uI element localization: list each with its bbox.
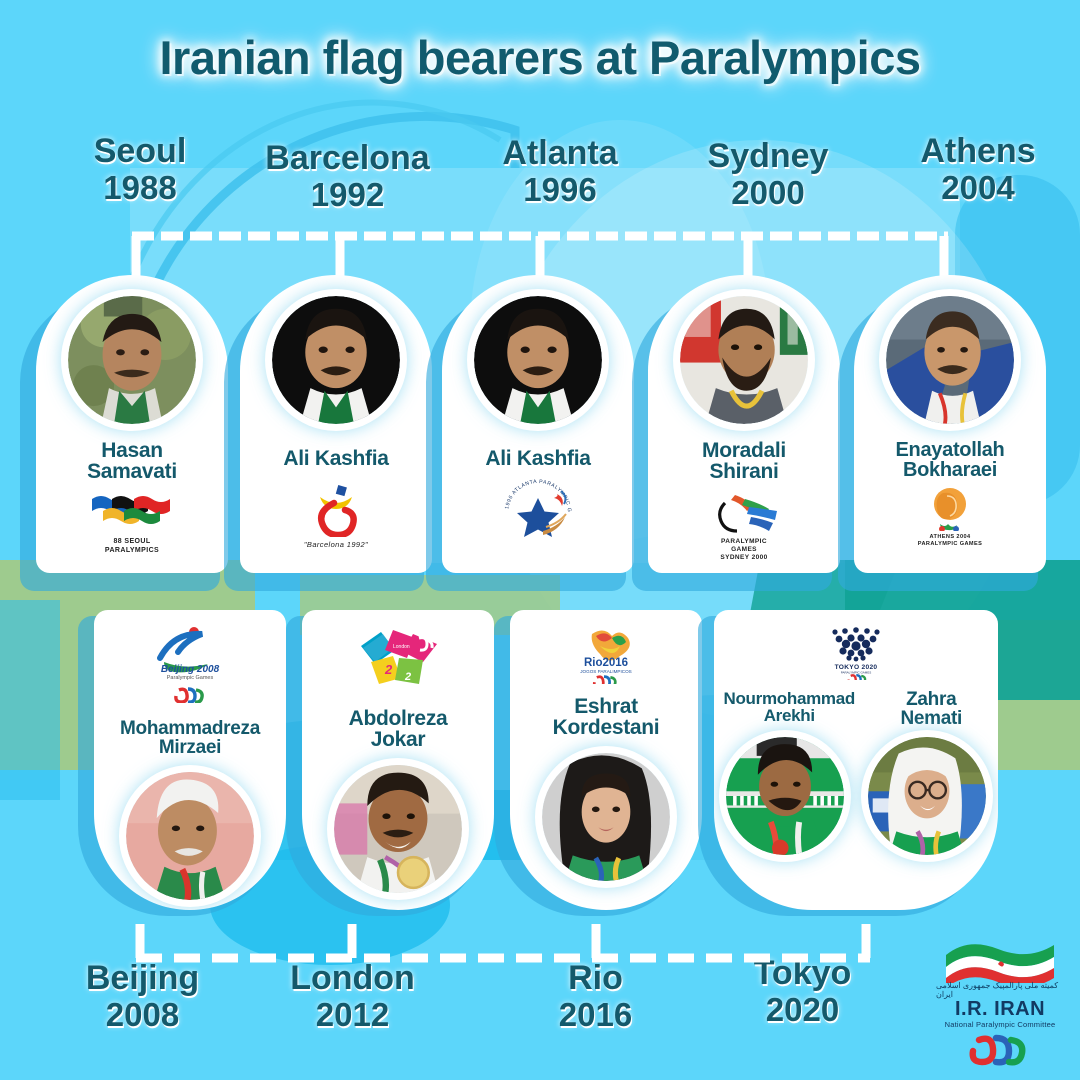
games-city: Sydney [668, 138, 868, 175]
logo-caption: "Barcelona 1992" [304, 540, 368, 549]
logo-mark [705, 491, 783, 537]
logo-mark: 2 2 London [353, 628, 443, 694]
card-face: Moradali Shirani PARALYMPICGAMESSYDNEY 2… [648, 275, 840, 573]
portrait-illustration [868, 737, 986, 855]
svg-text:2: 2 [404, 671, 411, 683]
flagbearer-card-rio[interactable]: Rio2016 JOGOS PARALIMPICOS Eshrat Kordes… [504, 610, 704, 930]
flagbearer-card-atlanta[interactable]: Ali Kashfia 1996 ATLANTA PARALYMPIC GAME… [434, 275, 634, 585]
games-label-atlanta: Atlanta 1996 [460, 135, 660, 207]
games-label-seoul: Seoul 1988 [40, 133, 240, 205]
card-face: TOKYO 2020 PARALYMPIC GAMES Nourmohammad… [714, 610, 998, 910]
portrait-illustration [68, 296, 196, 424]
beijing-2008-paralympics-logo: Beijing 2008 Paralympic Games [142, 626, 238, 703]
portrait-illustration [334, 765, 462, 893]
athens-2004-paralympics-logo: ATHENS 2004PARALYMPIC GAMES [918, 487, 983, 548]
seoul-1988-paralympics-logo: 88 SEOULPARALYMPICS [86, 493, 178, 556]
logo-mark: TOKYO 2020 PARALYMPIC GAMES [825, 624, 887, 680]
photo-abdolreza-jokar [334, 765, 462, 893]
games-label-sydney: Sydney 2000 [668, 138, 868, 210]
portrait-illustration [886, 296, 1014, 424]
games-label-barcelona: Barcelona 1992 [245, 140, 450, 212]
npc-logo: کمیته ملی پارالمپیک جمهوری اسلامی ایران … [936, 937, 1064, 1068]
logo-mark [86, 493, 178, 535]
games-city: Barcelona [245, 140, 450, 177]
flagbearer-card-seoul[interactable]: Hasan Samavati 88 SEOULPARALYMPICS [28, 275, 228, 585]
logo-caption: ATHENS 2004PARALYMPIC GAMES [918, 534, 983, 548]
person-name: Hasan Samavati [87, 440, 177, 483]
games-year: 2016 [498, 997, 693, 1033]
games-city: Seoul [40, 133, 240, 170]
svg-text:Beijing 2008: Beijing 2008 [161, 664, 220, 675]
person-name: Mohammadreza Mirzaei [120, 719, 260, 758]
games-city: Athens [878, 133, 1078, 170]
photo-zahra-nemati [868, 737, 986, 855]
logo-mark [923, 487, 977, 531]
card-face: Beijing 2008 Paralympic Games Mohammadre… [94, 610, 286, 910]
page-title: Iranian flag bearers at Paralympics [0, 30, 1080, 85]
flagbearer-card-beijing[interactable]: Beijing 2008 Paralympic Games Mohammadre… [88, 610, 288, 930]
flagbearer-card-tokyo[interactable]: TOKYO 2020 PARALYMPIC GAMES Nourmohammad… [708, 610, 998, 930]
person-name: Enayatollah Bokharaei [896, 440, 1005, 481]
games-label-athens: Athens 2004 [878, 133, 1078, 205]
atlanta-1996-paralympics-logo: 1996 ATLANTA PARALYMPIC GAMES 1996 ATLAN… [499, 477, 577, 551]
photo-moradali-shirani [680, 296, 808, 424]
tokyo-people-names: Nourmohammad Arekhi Zahra Nemati [714, 690, 998, 729]
card-face: Hasan Samavati 88 SEOULPARALYMPICS [36, 275, 228, 573]
portrait-illustration [272, 296, 400, 424]
person-name: Ali Kashfia [283, 448, 388, 469]
games-city: Atlanta [460, 135, 660, 172]
paralympic-agitos-icon [173, 687, 207, 703]
npc-subtitle: National Paralympic Committee [945, 1020, 1056, 1029]
svg-text:JOGOS PARALIMPICOS: JOGOS PARALIMPICOS [580, 669, 631, 674]
logo-caption: 88 SEOULPARALYMPICS [105, 538, 159, 556]
london-2012-paralympics-logo: 2 2 London [353, 628, 443, 694]
photo-mohammadreza-mirzaei [126, 772, 254, 900]
portrait-illustration [126, 772, 254, 900]
portrait-illustration [474, 296, 602, 424]
games-year: 2004 [878, 170, 1078, 206]
person-name: Zahra Nemati [869, 690, 994, 729]
photo-ali-kashfia-1992 [272, 296, 400, 424]
photo-hasan-samavati [68, 296, 196, 424]
portrait-illustration [726, 737, 844, 855]
flagbearer-card-athens[interactable]: Enayatollah Bokharaei ATHENS 2004PARALYM… [846, 275, 1046, 585]
games-year: 1996 [460, 172, 660, 208]
card-face: Enayatollah Bokharaei ATHENS 2004PARALYM… [854, 275, 1046, 573]
npc-title: I.R. IRAN [955, 999, 1045, 1019]
card-face: Ali Kashfia "Barcelona 1992" [240, 275, 432, 573]
sydney-2000-paralympics-logo: PARALYMPICGAMESSYDNEY 2000 [705, 491, 783, 562]
card-face: 2 2 London Abdolreza Jokar [302, 610, 494, 910]
games-year: 2000 [668, 175, 868, 211]
games-year: 2008 [45, 997, 240, 1033]
rio-2016-paralympics-logo: Rio2016 JOGOS PARALIMPICOS [560, 628, 652, 684]
logo-mark: 1996 ATLANTA PARALYMPIC GAMES [499, 477, 577, 539]
npc-farsi-text: کمیته ملی پارالمپیک جمهوری اسلامی ایران [936, 981, 1064, 999]
person-name: Ali Kashfia [485, 448, 590, 469]
photo-ali-kashfia-1996 [474, 296, 602, 424]
photo-eshrat-kordestani [542, 753, 670, 881]
games-year: 2020 [705, 992, 900, 1028]
flagbearer-card-london[interactable]: 2 2 London Abdolreza Jokar [296, 610, 496, 930]
person-name: Nourmohammad Arekhi [718, 690, 860, 729]
person-name: Moradali Shirani [702, 440, 786, 483]
logo-mark: Rio2016 JOGOS PARALIMPICOS [560, 628, 652, 684]
svg-text:2: 2 [384, 662, 393, 677]
portrait-illustration [680, 296, 808, 424]
svg-text:London: London [393, 644, 410, 650]
svg-text:Rio2016: Rio2016 [584, 657, 628, 669]
tokyo-people-photos [714, 737, 998, 855]
person-name: Eshrat Kordestani [553, 696, 660, 739]
svg-text:Paralympic Games: Paralympic Games [167, 675, 214, 681]
logo-mark: Beijing 2008 Paralympic Games [142, 626, 238, 684]
games-year: 2012 [255, 997, 450, 1033]
logo-mark [306, 481, 366, 537]
tokyo-2020-paralympics-logo: TOKYO 2020 PARALYMPIC GAMES [825, 624, 887, 680]
logo-caption: PARALYMPICGAMESSYDNEY 2000 [720, 538, 767, 562]
portrait-illustration [542, 753, 670, 881]
card-face: Rio2016 JOGOS PARALIMPICOS Eshrat Kordes… [510, 610, 702, 910]
games-year: 1988 [40, 170, 240, 206]
photo-nourmohammad-arekhi [726, 737, 844, 855]
photo-enayatollah-bokharaei [886, 296, 1014, 424]
flagbearer-card-barcelona[interactable]: Ali Kashfia "Barcelona 1992" [232, 275, 432, 585]
games-year: 1992 [245, 177, 450, 213]
iran-flag-wave-icon [940, 937, 1060, 983]
svg-text:PARALYMPIC GAMES: PARALYMPIC GAMES [841, 671, 872, 675]
flagbearer-card-sydney[interactable]: Moradali Shirani PARALYMPICGAMESSYDNEY 2… [640, 275, 840, 585]
card-face: Ali Kashfia 1996 ATLANTA PARALYMPIC GAME… [442, 275, 634, 573]
paralympic-agitos-icon [969, 1034, 1031, 1068]
person-name: Abdolreza Jokar [349, 708, 448, 751]
barcelona-1992-paralympics-logo: "Barcelona 1992" [304, 481, 368, 549]
